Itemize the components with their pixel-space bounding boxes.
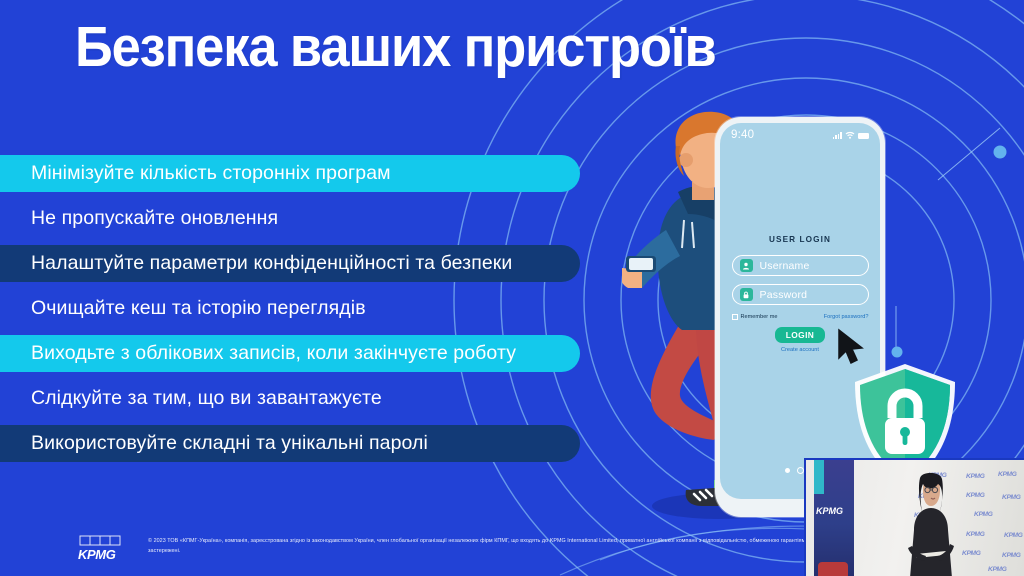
login-form-title: USER LOGIN (769, 235, 831, 244)
list-item-label: Налаштуйте параметри конфіденційності та… (0, 252, 512, 275)
banner-accent (814, 460, 824, 494)
login-button[interactable]: LOGIN (775, 327, 826, 343)
lock-icon (740, 288, 753, 301)
password-placeholder: Password (760, 289, 808, 301)
login-options-row: Remember me Forgot password? (732, 314, 869, 320)
svg-text:KPMG: KPMG (78, 547, 116, 562)
forgot-password-link[interactable]: Forgot password? (824, 314, 869, 320)
webcam-video-overlay[interactable]: KPMG KPMG KPMG KPMG KPMG KPMG KPMG KPMG … (804, 458, 1024, 576)
backdrop-logo: KPMG (974, 511, 993, 518)
create-account-link[interactable]: Create account (781, 347, 819, 353)
backdrop-logo: KPMG (1002, 494, 1021, 501)
username-field[interactable]: Username (732, 255, 869, 276)
status-icons (833, 131, 869, 139)
phone-status-bar: 9:40 (720, 127, 880, 143)
banner-logo: KPMG (816, 506, 843, 516)
presentation-slide: Безпека ваших пристроїв Мінімізуйте кіль… (0, 0, 1024, 576)
remember-me-checkbox[interactable]: Remember me (732, 314, 778, 320)
backdrop-logo: KPMG (988, 566, 1007, 573)
signal-icon (833, 132, 842, 139)
list-item-label: Слідкуйте за тим, що ви завантажуєте (0, 387, 382, 410)
banner-base (818, 562, 848, 576)
list-item-label: Виходьте з облікових записів, коли закін… (0, 342, 516, 365)
page-dot[interactable] (798, 468, 803, 473)
wifi-icon (845, 131, 855, 139)
list-item-label: Очищайте кеш та історію переглядів (0, 297, 366, 320)
remember-me-label: Remember me (741, 314, 778, 320)
backdrop-logo: KPMG (1002, 552, 1021, 559)
backdrop-logo: KPMG (998, 471, 1017, 478)
battery-icon (858, 133, 869, 139)
backdrop-logo: KPMG (1004, 532, 1023, 539)
password-field[interactable]: Password (732, 284, 869, 305)
list-item-label: Використовуйте складні та унікальні паро… (0, 432, 428, 455)
kpmg-logo: KPMG (72, 534, 134, 564)
list-item-label: Не пропускайте оновлення (0, 207, 278, 230)
checkbox-box (732, 314, 738, 320)
presenter-figure (892, 468, 970, 576)
username-placeholder: Username (760, 260, 810, 272)
legal-text: © 2023 ТОВ «КПМГ-Україна», компанія, зар… (148, 536, 878, 556)
page-dot-active[interactable] (785, 468, 790, 473)
list-item-label: Мінімізуйте кількість сторонніх програм (0, 162, 391, 185)
user-icon (740, 259, 753, 272)
webcam-rollup-banner: KPMG (814, 460, 854, 576)
status-clock: 9:40 (731, 129, 754, 141)
